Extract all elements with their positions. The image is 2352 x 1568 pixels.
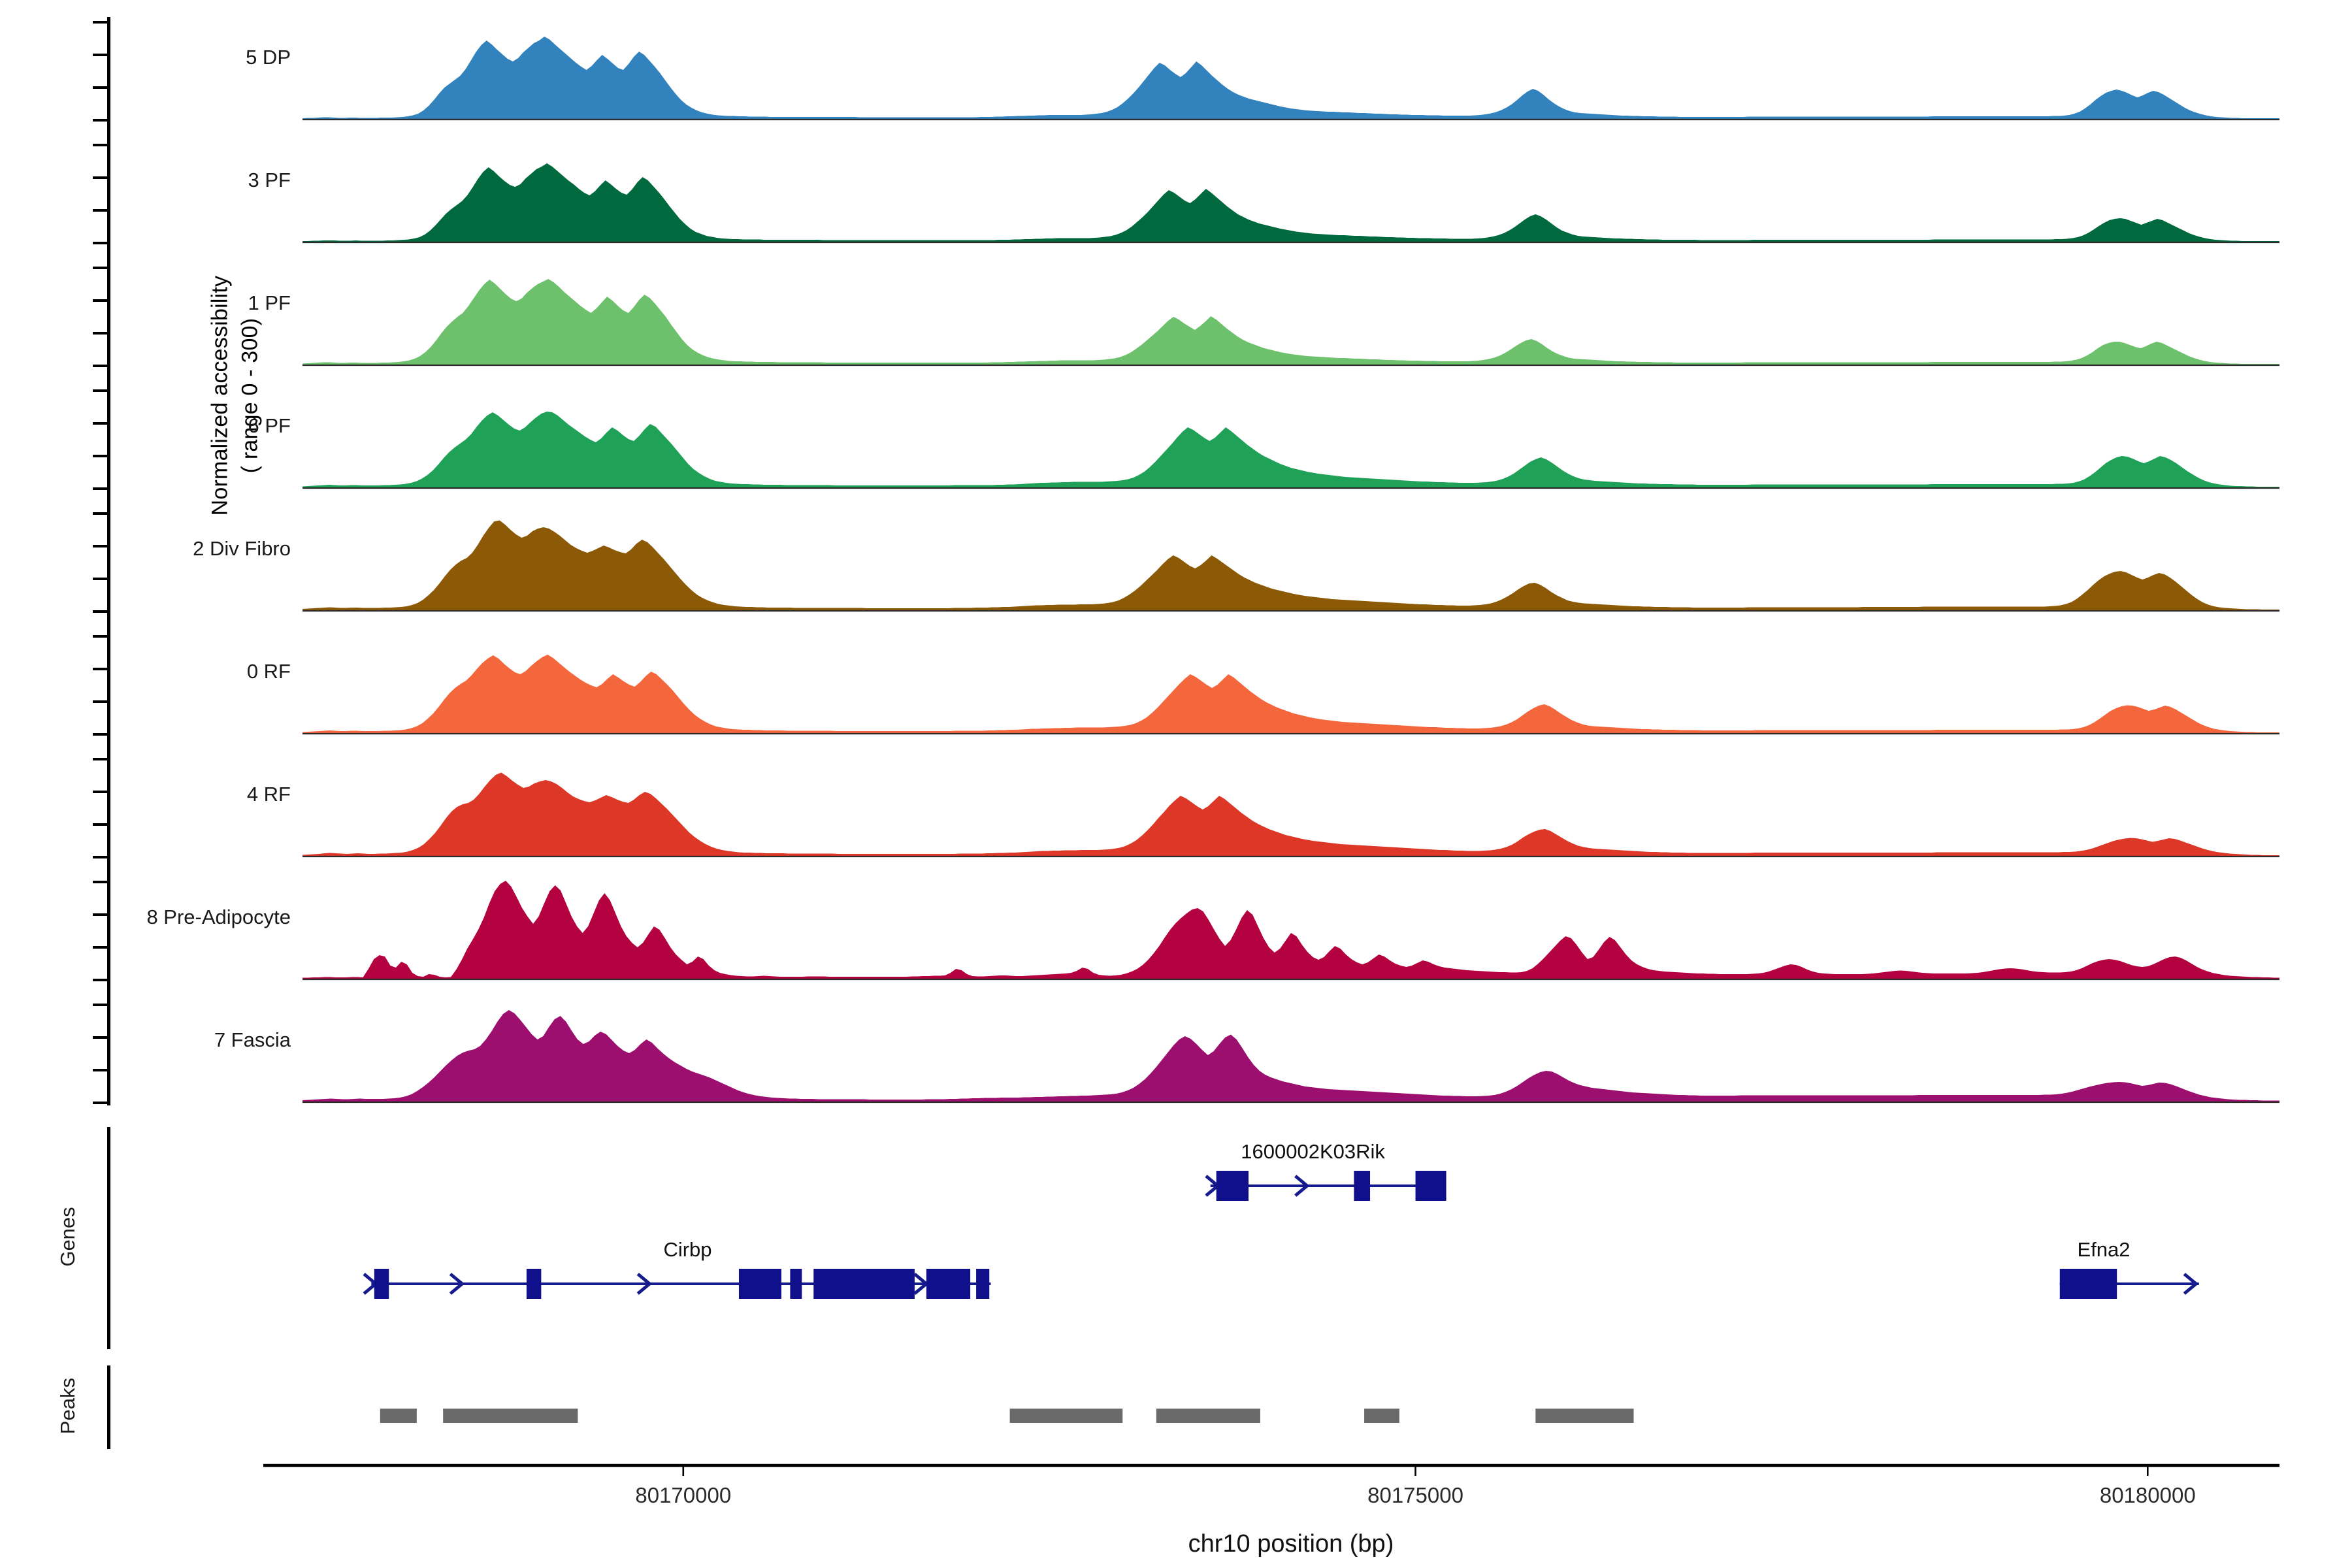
genes-section-label: Genes	[56, 1152, 80, 1322]
y-axis-tick	[93, 668, 107, 670]
coverage-area	[302, 279, 2279, 365]
figure-canvas: Normalized accessibility ( range 0 - 300…	[0, 0, 2352, 1568]
gene-exon	[527, 1269, 541, 1299]
y-axis-tick	[93, 487, 107, 490]
gene-exon	[1416, 1171, 1446, 1201]
gene-Efna2[interactable]: Efna2	[2060, 1238, 2199, 1299]
coverage-track-2	[302, 163, 2279, 242]
x-axis-tick-label: 80180000	[2100, 1483, 2196, 1507]
coverage-track-9	[302, 1010, 2279, 1102]
peak-bar[interactable]	[1364, 1409, 1399, 1423]
gene-exon	[813, 1269, 915, 1299]
y-axis-tick	[93, 512, 107, 515]
gene-exon	[1354, 1171, 1370, 1201]
y-axis-tick	[93, 176, 107, 179]
y-axis-rail	[107, 17, 110, 1105]
coverage-area	[302, 521, 2279, 611]
y-axis-tick	[93, 979, 107, 981]
coverage-track-3	[302, 279, 2279, 365]
y-axis-tick	[93, 144, 107, 146]
y-axis-tick	[93, 1069, 107, 1071]
y-axis-tick	[93, 700, 107, 703]
y-axis-tick	[93, 242, 107, 244]
y-axis-tick	[93, 881, 107, 883]
x-axis-tick-label: 80170000	[635, 1483, 731, 1507]
gene-label: 1600002K03Rik	[1241, 1140, 1385, 1163]
track-label-2-div-fibro: 2 Div Fibro	[193, 537, 291, 561]
coverage-plot: 1600002K03RikCirbpEfna280170000801750008…	[0, 0, 2352, 1568]
x-axis-title: chr10 position (bp)	[1188, 1530, 1394, 1558]
track-label-4-rf: 4 RF	[247, 783, 291, 806]
track-label-7-fascia: 7 Fascia	[214, 1028, 291, 1052]
y-axis-tick	[93, 389, 107, 392]
peak-bar[interactable]	[443, 1409, 578, 1423]
y-axis-tick	[93, 733, 107, 736]
coverage-track-8	[302, 881, 2279, 979]
peaks-section-label: Peaks	[56, 1331, 80, 1481]
y-axis-tick	[93, 332, 107, 335]
track-label-3-pf: 3 PF	[248, 169, 291, 192]
y-axis-tick	[93, 545, 107, 547]
gene-exon	[374, 1269, 389, 1299]
gene-exon	[926, 1269, 970, 1299]
gene-exon	[976, 1269, 989, 1299]
peak-bar[interactable]	[1156, 1409, 1260, 1423]
y-axis-tick	[93, 856, 107, 858]
y-axis-tick	[93, 635, 107, 638]
track-label-6-pf: 6 PF	[248, 414, 291, 438]
gene-exon	[2060, 1269, 2117, 1299]
coverage-area	[302, 773, 2279, 857]
coverage-area	[302, 881, 2279, 979]
peaks-section-rail	[107, 1365, 110, 1449]
y-axis-tick	[93, 913, 107, 916]
y-axis-tick	[93, 1036, 107, 1039]
y-axis-tick	[93, 21, 107, 24]
gene-Cirbp[interactable]: Cirbp	[364, 1238, 990, 1299]
track-label-5-dp: 5 DP	[246, 46, 291, 69]
y-axis-tick	[93, 1004, 107, 1006]
coverage-area	[302, 412, 2279, 487]
coverage-area	[302, 1010, 2279, 1102]
y-axis-tick	[93, 823, 107, 826]
track-label-8-pre-adipocyte: 8 Pre-Adipocyte	[146, 906, 291, 929]
gene-label: Cirbp	[663, 1238, 711, 1261]
peak-bar[interactable]	[1535, 1409, 1633, 1423]
coverage-area	[302, 655, 2279, 733]
y-axis-tick	[93, 455, 107, 457]
y-axis-tick	[93, 267, 107, 269]
gene-exon	[1217, 1171, 1249, 1201]
coverage-track-4	[302, 412, 2279, 488]
gene-strand-arrow-icon	[364, 1274, 376, 1294]
coverage-track-7	[302, 773, 2279, 857]
gene-exon	[790, 1269, 802, 1299]
y-axis-tick	[93, 119, 107, 122]
y-axis-tick	[93, 578, 107, 580]
gene-1600002K03Rik[interactable]: 1600002K03Rik	[1206, 1140, 1446, 1201]
y-axis-tick	[93, 610, 107, 613]
coverage-track-1	[302, 37, 2279, 120]
y-axis-tick	[93, 299, 107, 302]
track-label-0-rf: 0 RF	[247, 660, 291, 683]
y-axis-tick	[93, 1102, 107, 1104]
y-axis-tick	[93, 86, 107, 89]
peak-bar[interactable]	[380, 1409, 417, 1423]
gene-label: Efna2	[2078, 1238, 2131, 1261]
x-axis-tick-label: 80175000	[1367, 1483, 1463, 1507]
y-axis-tick	[93, 946, 107, 949]
coverage-track-5	[302, 521, 2279, 612]
y-axis-tick	[93, 758, 107, 760]
coverage-area	[302, 163, 2279, 242]
y-axis-tick	[93, 422, 107, 425]
y-axis-tick	[93, 791, 107, 793]
track-label-1-pf: 1 PF	[248, 291, 291, 315]
coverage-area	[302, 37, 2279, 119]
gene-exon	[739, 1269, 781, 1299]
peak-bar[interactable]	[1010, 1409, 1123, 1423]
genes-section-rail	[107, 1127, 110, 1349]
y-axis-tick	[93, 54, 107, 56]
coverage-track-6	[302, 655, 2279, 734]
y-axis-tick	[93, 209, 107, 212]
y-axis-tick	[93, 365, 107, 367]
